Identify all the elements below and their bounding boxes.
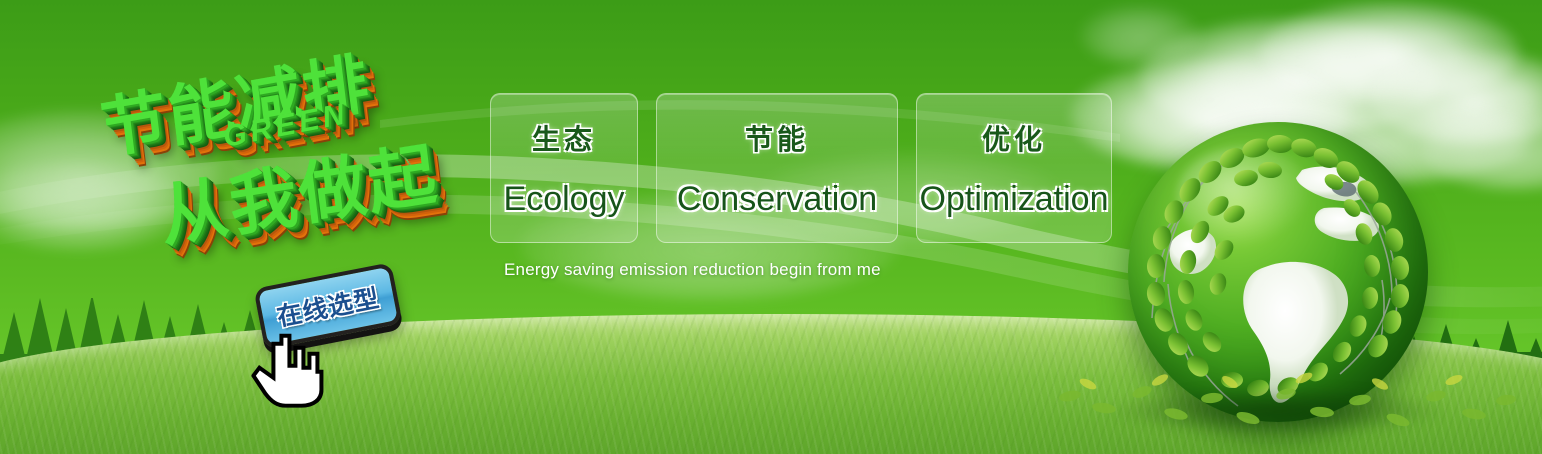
feature-card-title-en: Conservation bbox=[677, 180, 877, 219]
feature-card-optimization[interactable]: 优化 Optimization bbox=[916, 93, 1112, 243]
feature-card-list: 生态 Ecology 节能 Conservation 优化 Optimizati… bbox=[490, 93, 1112, 243]
feature-card-title-cn: 生态 bbox=[532, 118, 596, 158]
hero-title-3d: 节能减排 GREEN 从我做起 bbox=[83, 16, 508, 293]
pointing-hand-cursor-icon bbox=[251, 332, 325, 408]
feature-card-title-en: Optimization bbox=[920, 180, 1109, 219]
online-selection-button-label: 在线选型 bbox=[274, 278, 383, 333]
globe-ground-shadow bbox=[1110, 386, 1446, 436]
feature-card-conservation[interactable]: 节能 Conservation bbox=[656, 93, 898, 243]
cloud-icon bbox=[1080, 5, 1200, 65]
banner-tagline: Energy saving emission reduction begin f… bbox=[504, 260, 881, 280]
leafy-earth-globe bbox=[1128, 122, 1428, 422]
feature-card-title-en: Ecology bbox=[504, 180, 625, 219]
cloud-icon bbox=[1420, 110, 1542, 190]
hero-banner: 节能减排 GREEN 从我做起 生态 Ecology 节能 Conservati… bbox=[0, 0, 1542, 454]
globe-detail-svg bbox=[1128, 122, 1428, 422]
feature-card-title-cn: 优化 bbox=[982, 118, 1046, 158]
cloud-icon bbox=[1140, 18, 1440, 138]
feature-card-ecology[interactable]: 生态 Ecology bbox=[490, 93, 638, 243]
feature-card-title-cn: 节能 bbox=[745, 118, 809, 158]
cloud-icon bbox=[1260, 2, 1520, 102]
